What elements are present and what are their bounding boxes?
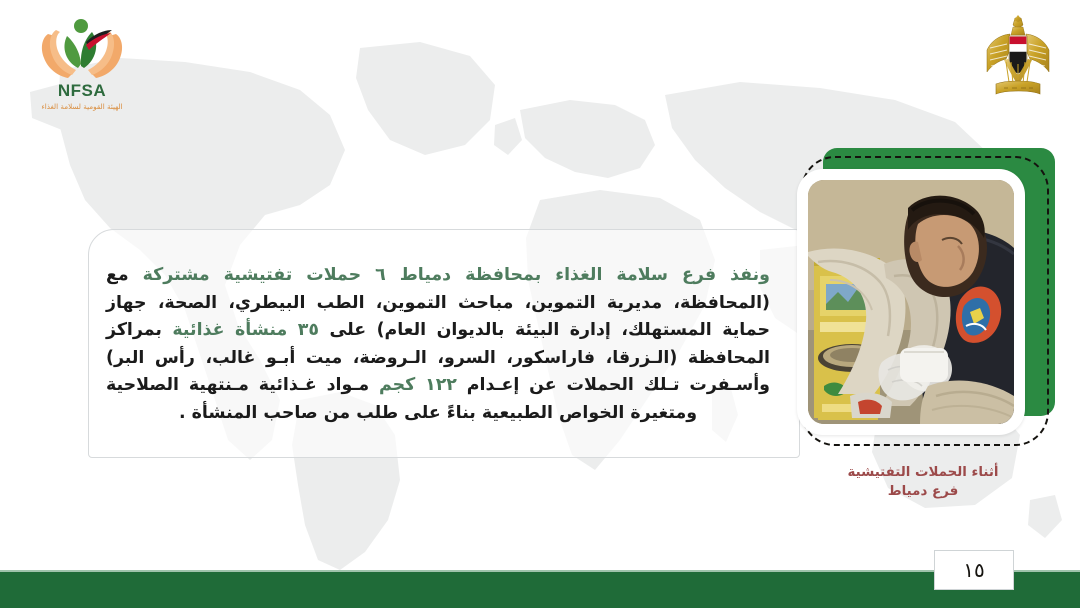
inspection-photo (808, 180, 1014, 424)
paragraph-segment-2: ٣٥ منشأة غذائية (172, 320, 319, 340)
page-number-box: ١٥ (934, 550, 1014, 590)
caption-line-1: أثناء الحملات التفتيشية (797, 463, 1049, 482)
photo-card (797, 169, 1025, 435)
nfsa-logo-mark (34, 14, 130, 80)
egypt-eagle-emblem (982, 14, 1054, 106)
nfsa-arabic-subtitle: الهيئة القومية لسلامة الغذاء (24, 102, 140, 111)
slide: NFSA الهيئة القومية لسلامة الغذاء (0, 0, 1080, 608)
photo-caption: أثناء الحملات التفتيشية فرع دمياط (797, 463, 1049, 501)
paragraph-segment-0: ونفذ فرع سلامة الغذاء بمحافظة دمياط ٦ حم… (143, 265, 770, 285)
nfsa-wordmark: NFSA (24, 82, 140, 99)
nfsa-logo: NFSA الهيئة القومية لسلامة الغذاء (24, 14, 140, 118)
page-number: ١٥ (963, 558, 984, 582)
body-paragraph: ونفذ فرع سلامة الغذاء بمحافظة دمياط ٦ حم… (88, 262, 788, 427)
caption-line-2: فرع دمياط (797, 482, 1049, 501)
photo-block (797, 148, 1059, 454)
paragraph-segment-4: ١٢٢ كجم (379, 375, 457, 395)
footer-bar (0, 572, 1080, 608)
